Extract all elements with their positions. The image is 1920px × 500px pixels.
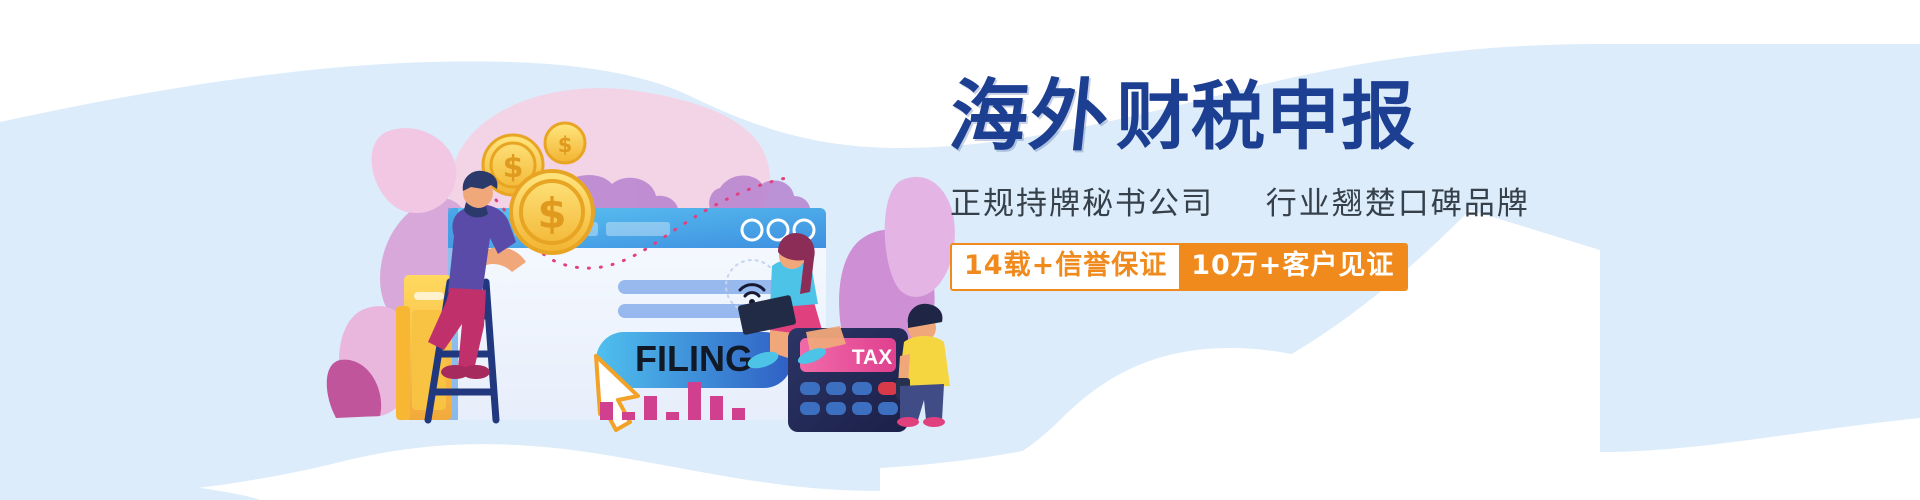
- trust-badges: 14载+信誉保证 10万+客户见证: [950, 243, 1408, 291]
- headline-part-2: 财税申报: [1116, 80, 1416, 156]
- badge-customers: 10万+客户见证: [1179, 245, 1406, 289]
- page-title: 海外 财税申报: [950, 78, 1590, 156]
- badge-years: 14载+信誉保证: [952, 245, 1179, 289]
- calculator-label: TAX: [852, 346, 892, 369]
- svg-text:$: $: [558, 133, 573, 157]
- subtitle-right: 行业翘楚口碑品牌: [1266, 186, 1530, 222]
- banner-subtitle: 正规持牌秘书公司 行业翘楚口碑品牌: [950, 178, 1590, 223]
- headline-part-1: 海外: [946, 78, 1114, 156]
- svg-text:$: $: [537, 189, 566, 238]
- filing-button-label: FILING: [635, 338, 753, 379]
- tax-filing-illustration: $ $ $: [300, 60, 940, 420]
- svg-text:$: $: [503, 150, 524, 185]
- promo-banner: $ $ $: [0, 0, 1920, 500]
- calculator: TAX: [788, 326, 908, 432]
- subtitle-left: 正规持牌秘书公司: [950, 186, 1214, 222]
- banner-text-block: 海外 财税申报 正规持牌秘书公司 行业翘楚口碑品牌 14载+信誉保证 10万+客…: [950, 78, 1590, 291]
